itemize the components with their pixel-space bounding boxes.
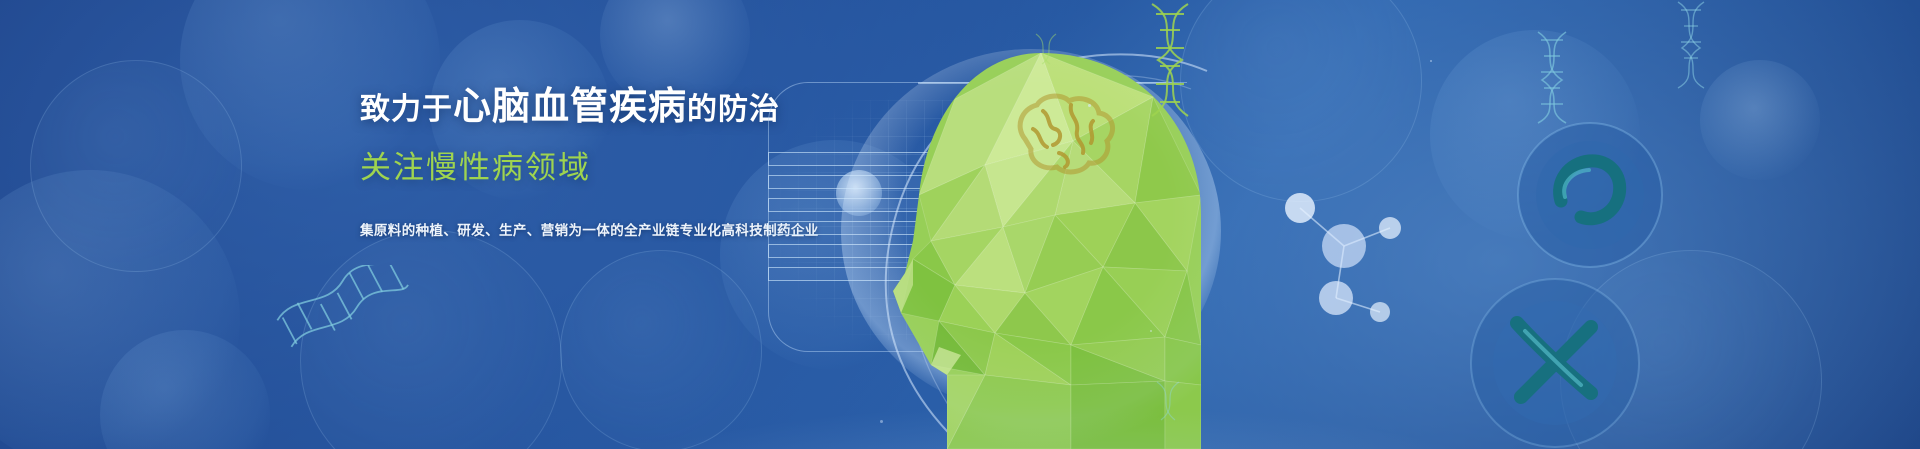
hero-banner: 致力于心脑血管疾病的防治 关注慢性病领域 集原料的种植、研发、生产、营销为一体的…: [0, 0, 1920, 449]
banner-text-block: 致力于心脑血管疾病的防治 关注慢性病领域 集原料的种植、研发、生产、营销为一体的…: [360, 88, 780, 239]
bokeh-circle: [30, 60, 242, 272]
headline-emphasis: 心脑血管疾病: [453, 86, 687, 128]
dna-helix-icon: [1520, 30, 1590, 125]
banner-subheadline: 关注慢性病领域: [360, 142, 780, 187]
dna-helix-icon: [1130, 0, 1220, 120]
particle-dot: [1430, 60, 1432, 62]
dna-helix-icon: [1660, 0, 1730, 90]
molecule-icon: [1240, 150, 1430, 340]
dna-helix-icon: [275, 265, 420, 365]
banner-headline: 致力于心脑血管疾病的防治: [360, 88, 780, 126]
bokeh-circle: [100, 330, 270, 449]
bacterium-icon: [1455, 275, 1655, 449]
dna-helix-icon: [1145, 380, 1205, 440]
bokeh-circle: [0, 170, 240, 449]
headline-suffix: 的防治: [687, 93, 780, 126]
bokeh-circle: [560, 250, 762, 449]
dna-helix-icon: [1030, 30, 1080, 70]
banner-tagline: 集原料的种植、研发、生产、营销为一体的全产业链专业化高科技制药企业: [360, 219, 780, 239]
headline-prefix: 致力于: [360, 93, 453, 126]
virus-cell-icon: [1505, 115, 1675, 275]
